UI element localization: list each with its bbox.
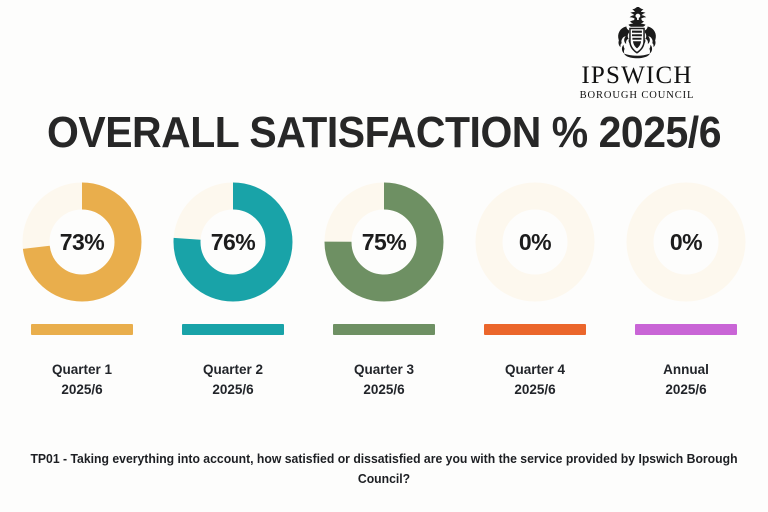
chart-col-annual: 0% Annual 2025/6 <box>612 182 760 399</box>
donut-annual: 0% <box>626 182 746 302</box>
donut-quarter-4: 0% <box>475 182 595 302</box>
chart-col-quarter-1: 73% Quarter 1 2025/6 <box>8 182 156 399</box>
label-line2: 2025/6 <box>203 380 263 400</box>
donut-value-quarter-3: 75% <box>324 182 444 302</box>
logo-name: IPSWICH <box>578 63 696 88</box>
label-annual: Annual 2025/6 <box>663 360 709 399</box>
label-line1: Quarter 2 <box>203 362 263 377</box>
council-logo: IPSWICH BOROUGH COUNCIL <box>578 6 696 102</box>
donut-quarter-2: 76% <box>173 182 293 302</box>
chart-col-quarter-2: 76% Quarter 2 2025/6 <box>159 182 307 399</box>
label-quarter-1: Quarter 1 2025/6 <box>52 360 112 399</box>
color-bar-quarter-1 <box>31 324 133 335</box>
label-line1: Quarter 1 <box>52 362 112 377</box>
label-line2: 2025/6 <box>505 380 565 400</box>
label-line1: Annual <box>663 362 709 377</box>
label-quarter-2: Quarter 2 2025/6 <box>203 360 263 399</box>
color-bar-annual <box>635 324 737 335</box>
label-line2: 2025/6 <box>52 380 112 400</box>
donut-value-quarter-2: 76% <box>173 182 293 302</box>
chart-col-quarter-3: 75% Quarter 3 2025/6 <box>310 182 458 399</box>
donut-quarter-3: 75% <box>324 182 444 302</box>
label-quarter-4: Quarter 4 2025/6 <box>505 360 565 399</box>
satisfaction-donut-row: 73% Quarter 1 2025/6 76% Quarter 2 2025/… <box>0 182 768 399</box>
label-line1: Quarter 4 <box>505 362 565 377</box>
donut-value-quarter-1: 73% <box>22 182 142 302</box>
logo-subtitle: BOROUGH COUNCIL <box>578 91 696 102</box>
color-bar-quarter-2 <box>182 324 284 335</box>
label-line2: 2025/6 <box>354 380 414 400</box>
chart-col-quarter-4: 0% Quarter 4 2025/6 <box>461 182 609 399</box>
donut-quarter-1: 73% <box>22 182 142 302</box>
coat-of-arms-icon <box>606 6 668 62</box>
page-title: OVERALL SATISFACTION % 2025/6 <box>27 108 741 158</box>
donut-value-annual: 0% <box>626 182 746 302</box>
color-bar-quarter-4 <box>484 324 586 335</box>
donut-value-quarter-4: 0% <box>475 182 595 302</box>
survey-question-caption: TP01 - Taking everything into account, h… <box>12 450 757 489</box>
color-bar-quarter-3 <box>333 324 435 335</box>
label-line2: 2025/6 <box>663 380 709 400</box>
label-quarter-3: Quarter 3 2025/6 <box>354 360 414 399</box>
label-line1: Quarter 3 <box>354 362 414 377</box>
